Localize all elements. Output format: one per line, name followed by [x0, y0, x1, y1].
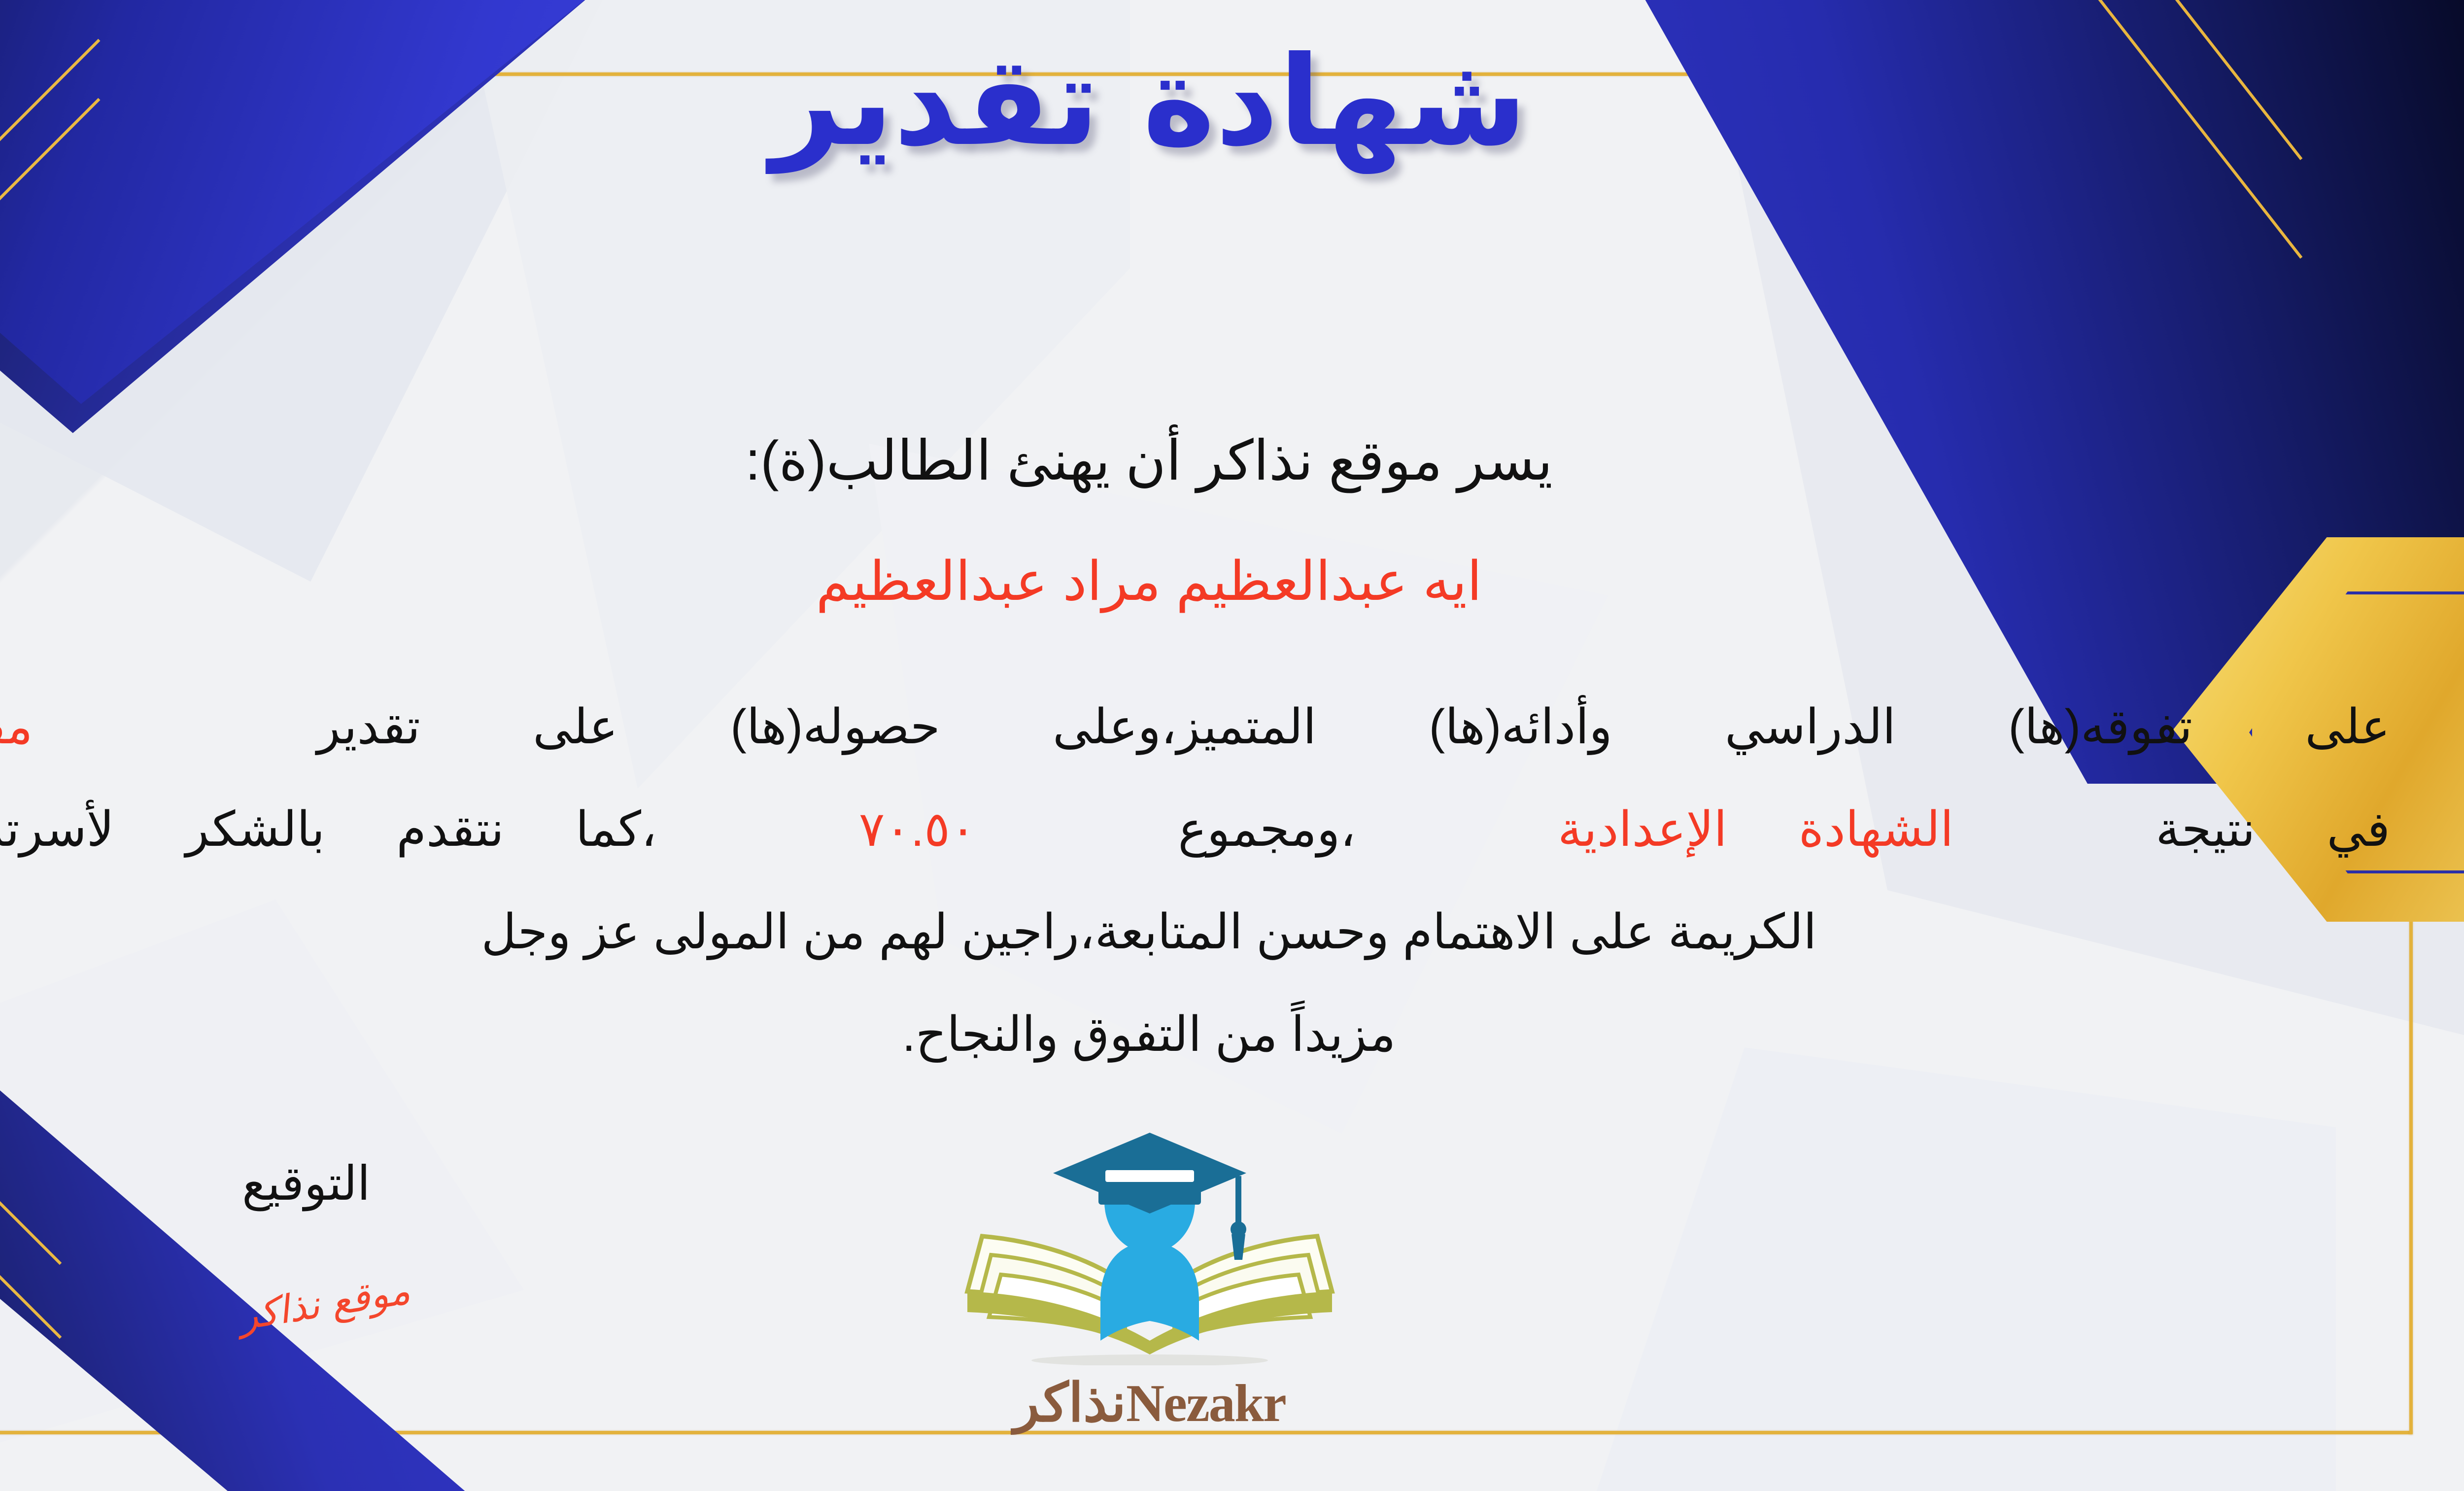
body-text-thanks: ،كما نتقدم بالشكر لأسرته(ها): [0, 802, 657, 856]
certificate-title: شهادة تقدير: [0, 30, 2464, 173]
greeting-line: يسر موقع نذاكر أن يهنئ الطالب(ة):: [0, 429, 2464, 493]
body-line-1: على تفوقه(ها) الدراسي وأدائه(ها) المتميز…: [0, 675, 2390, 778]
body-line-3: الكريمة على الاهتمام وحسن المتابعة،راجين…: [0, 880, 2390, 983]
body-line-2: في نتيجة الشهادة الإعدادية ،ومجموع ٧٠.٥٠…: [0, 778, 2390, 880]
certificate-canvas: شهادة تقدير يسر موقع نذاكر أن يهنئ الطال…: [0, 0, 2464, 1491]
exam-name: الشهادة الإعدادية: [1558, 802, 1953, 856]
total-score-value: ٧٠.٥٠: [859, 802, 976, 856]
signature-label: التوقيع: [242, 1156, 370, 1211]
site-logo: Nezakrنذاكر: [953, 1129, 1347, 1434]
logo-arabic-text: نذاكر: [1014, 1374, 1126, 1433]
logo-wordmark: Nezakrنذاكر: [953, 1372, 1347, 1434]
graduation-book-icon: [953, 1129, 1347, 1365]
grade-value: مقبول: [0, 699, 33, 754]
certificate-body: على تفوقه(ها) الدراسي وأدائه(ها) المتميز…: [0, 675, 2390, 1085]
logo-latin-text: Nezakr: [1126, 1374, 1286, 1433]
body-text-result-prefix: في نتيجة: [2156, 802, 2390, 856]
signature-mark: موقع نذاكر: [236, 1268, 413, 1339]
body-line-4: مزيداً من التفوق والنجاح.: [0, 983, 2390, 1085]
body-text-achievement: على تفوقه(ها) الدراسي وأدائه(ها) المتميز…: [317, 699, 2390, 754]
body-text-total-label: ،ومجموع: [1178, 802, 1356, 856]
student-name: ايه عبدالعظيم مراد عبدالعظيم: [0, 550, 2464, 613]
